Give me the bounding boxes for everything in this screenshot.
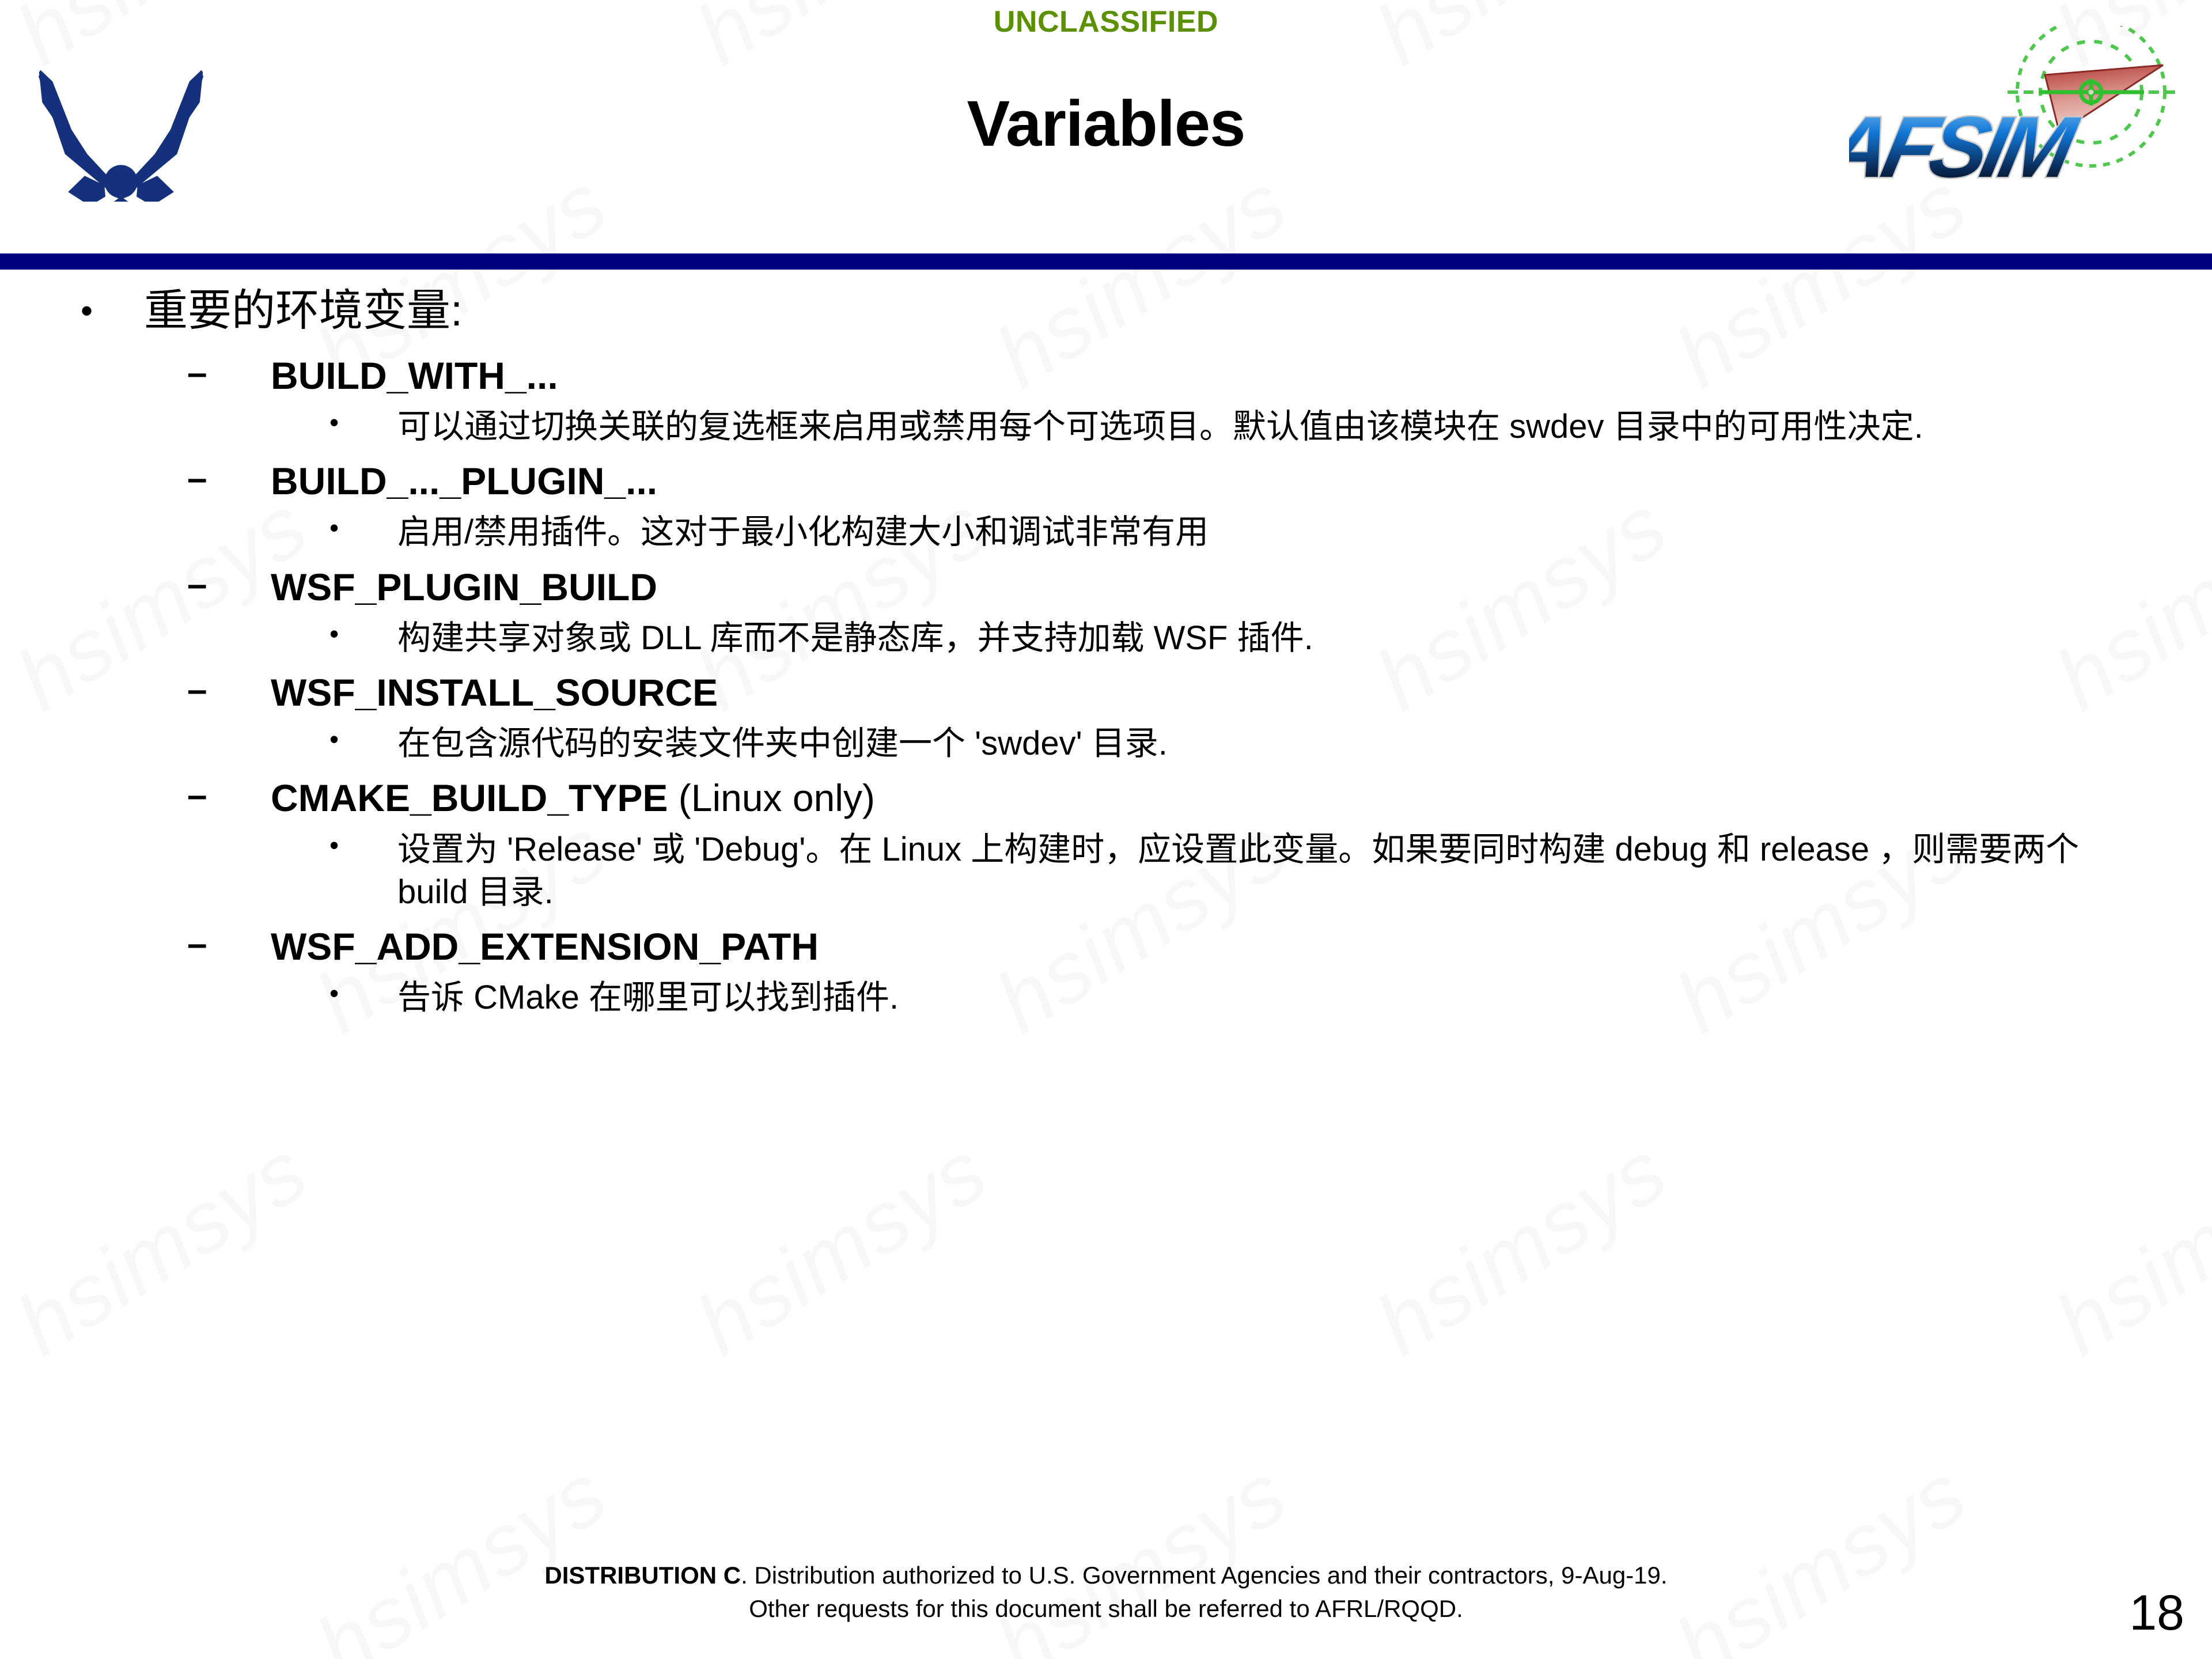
bullet-glyph-level2: – <box>187 669 207 711</box>
bullet-glyph-level3: • <box>329 976 339 1010</box>
svg-text:AFSIM: AFSIM <box>1849 100 2086 196</box>
header-divider-bar <box>0 253 2212 270</box>
variable-description-row: • 告诉 CMake 在哪里可以找到插件. <box>0 976 2212 1019</box>
bullet-glyph-level2: – <box>187 352 207 395</box>
variable-name: BUILD_..._PLUGIN_... <box>271 460 657 502</box>
bullet-glyph-level3: • <box>329 511 339 545</box>
variable-description-row: • 启用/禁用插件。这对于最小化构建大小和调试非常有用 <box>0 511 2212 554</box>
bullet-level1-intro: • 重要的环境变量: <box>0 285 2212 337</box>
watermark-text: hsimsys <box>1359 1121 1684 1375</box>
distribution-text: . Distribution authorized to U.S. Govern… <box>741 1562 1668 1589</box>
variable-entry: – WSF_PLUGIN_BUILD • 构建共享对象或 DLL 库而不是静态库… <box>0 565 2212 660</box>
watermark-text: hsimsys <box>0 1121 324 1375</box>
variable-description: 启用/禁用插件。这对于最小化构建大小和调试非常有用 <box>397 513 1209 551</box>
bullet-glyph-level3: • <box>329 722 339 756</box>
variable-entry: – CMAKE_BUILD_TYPE (Linux only) • 设置为 'R… <box>0 775 2212 914</box>
bullet-glyph-level3: • <box>329 617 339 651</box>
afsim-logo-icon: AFSIM <box>1849 26 2206 199</box>
variable-description: 告诉 CMake 在哪里可以找到插件. <box>397 979 899 1016</box>
variable-entry: – WSF_ADD_EXTENSION_PATH • 告诉 CMake 在哪里可… <box>0 924 2212 1019</box>
slide-content: • 重要的环境变量: – BUILD_WITH_... • 可以通过切换关联的复… <box>0 285 2212 1025</box>
distribution-line-1: DISTRIBUTION C. Distribution authorized … <box>0 1559 2212 1592</box>
distribution-line-2: Other requests for this document shall b… <box>0 1592 2212 1626</box>
variable-name-row: – WSF_INSTALL_SOURCE <box>0 670 2212 715</box>
variable-name: BUILD_WITH_... <box>271 354 558 397</box>
bullet-glyph-level2: – <box>187 563 207 606</box>
bullet-glyph-level3: • <box>329 828 339 862</box>
variable-description: 可以通过切换关联的复选框来启用或禁用每个可选项目。默认值由该模块在 swdev … <box>397 408 1923 445</box>
bullet-glyph-level2: – <box>187 774 207 817</box>
variable-description-row: • 在包含源代码的安装文件夹中创建一个 'swdev' 目录. <box>0 722 2212 765</box>
variable-name: WSF_INSTALL_SOURCE <box>271 671 718 714</box>
variable-name: WSF_ADD_EXTENSION_PATH <box>271 925 819 968</box>
bullet-glyph-level2: – <box>187 923 207 965</box>
bullet-level1-text: 重要的环境变量: <box>144 286 463 335</box>
watermark-text: hsimsys <box>1659 1444 1983 1659</box>
variable-description: 构建共享对象或 DLL 库而不是静态库，并支持加载 WSF 插件. <box>397 619 1313 657</box>
distribution-footer: DISTRIBUTION C. Distribution authorized … <box>0 1559 2212 1626</box>
variable-name-row: – CMAKE_BUILD_TYPE (Linux only) <box>0 775 2212 821</box>
variable-name-row: – BUILD_..._PLUGIN_... <box>0 459 2212 504</box>
watermark-text: hsimsys <box>680 1121 1004 1375</box>
bullet-glyph-level1: • <box>81 285 93 337</box>
variable-name-row: – BUILD_WITH_... <box>0 353 2212 399</box>
variable-name-row: – WSF_PLUGIN_BUILD <box>0 565 2212 610</box>
variable-description-row: • 构建共享对象或 DLL 库而不是静态库，并支持加载 WSF 插件. <box>0 617 2212 660</box>
variable-entry: – BUILD_WITH_... • 可以通过切换关联的复选框来启用或禁用每个可… <box>0 353 2212 448</box>
variable-name-row: – WSF_ADD_EXTENSION_PATH <box>0 924 2212 969</box>
bullet-glyph-level2: – <box>187 457 207 500</box>
variable-description-row: • 可以通过切换关联的复选框来启用或禁用每个可选项目。默认值由该模块在 swde… <box>0 406 2212 448</box>
page-number: 18 <box>2129 1585 2184 1642</box>
variable-entry: – BUILD_..._PLUGIN_... • 启用/禁用插件。这对于最小化构… <box>0 459 2212 554</box>
variable-name-suffix: (Linux only) <box>668 777 875 819</box>
watermark-text: hsimsys <box>300 1444 624 1659</box>
variable-description: 设置为 'Release' 或 'Debug'。在 Linux 上构建时，应设置… <box>397 831 2079 911</box>
variable-name: CMAKE_BUILD_TYPE <box>271 777 668 819</box>
variable-entry: – WSF_INSTALL_SOURCE • 在包含源代码的安装文件夹中创建一个… <box>0 670 2212 765</box>
watermark-text: hsimsys <box>2039 1121 2212 1375</box>
bullet-glyph-level3: • <box>329 406 339 440</box>
variable-description-row: • 设置为 'Release' 或 'Debug'。在 Linux 上构建时，应… <box>0 828 2212 914</box>
watermark-text: hsimsys <box>979 1444 1304 1659</box>
us-air-force-logo-icon <box>17 29 225 202</box>
distribution-label: DISTRIBUTION C <box>544 1562 741 1589</box>
variable-description: 在包含源代码的安装文件夹中创建一个 'swdev' 目录. <box>397 725 1168 762</box>
variable-name: WSF_PLUGIN_BUILD <box>271 566 657 608</box>
